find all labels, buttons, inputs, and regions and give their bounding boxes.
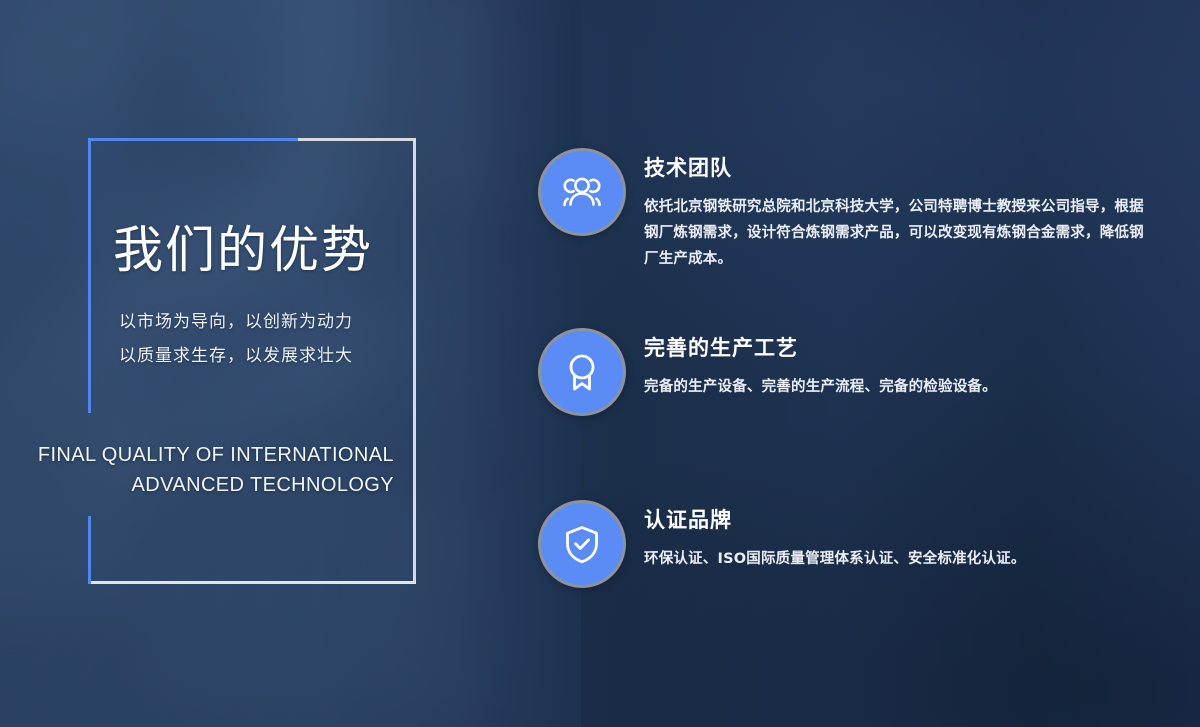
promo-banner: 我们的优势 以市场为导向，以创新为动力 以质量求生存，以发展求壮大 FINAL … <box>0 0 1200 727</box>
frame-top-accent-segment <box>88 138 298 141</box>
left-content: 我们的优势 以市场为导向，以创新为动力 以质量求生存，以发展求壮大 FINAL … <box>0 0 581 727</box>
frame-left-edge-upper <box>88 138 91 268</box>
frame-left-edge-middle <box>88 268 91 413</box>
frame-top-white-segment <box>298 138 416 141</box>
feature-text: 技术团队 依托北京钢铁研究总院和北京科技大学，公司特聘博士教授来公司指导，根据钢… <box>644 152 1158 272</box>
feature-description: 依托北京钢铁研究总院和北京科技大学，公司特聘博士教授来公司指导，根据钢厂炼钢需求… <box>644 194 1158 272</box>
feature-title: 完善的生产工艺 <box>644 332 1158 362</box>
feature-description: 完备的生产设备、完善的生产流程、完备的检验设备。 <box>644 374 1158 400</box>
english-tagline-line-1: FINAL QUALITY OF INTERNATIONAL <box>26 440 394 470</box>
feature-text: 完善的生产工艺 完备的生产设备、完善的生产流程、完备的检验设备。 <box>644 332 1158 400</box>
subtitle-block: 以市场为导向，以创新为动力 以质量求生存，以发展求壮大 <box>119 305 539 373</box>
people-group-icon <box>538 148 626 236</box>
subtitle-line-1: 以市场为导向，以创新为动力 <box>119 305 539 339</box>
shield-check-icon <box>538 500 626 588</box>
english-tagline: FINAL QUALITY OF INTERNATIONAL ADVANCED … <box>26 440 394 500</box>
english-tagline-line-2: ADVANCED TECHNOLOGY <box>26 470 394 500</box>
feature-title: 认证品牌 <box>644 504 1158 534</box>
page-title: 我们的优势 <box>113 225 513 275</box>
feature-description: 环保认证、ISO国际质量管理体系认证、安全标准化认证。 <box>644 546 1158 572</box>
subtitle-line-2: 以质量求生存，以发展求壮大 <box>119 339 539 373</box>
frame-left-edge-lower <box>88 516 91 584</box>
feature-title: 技术团队 <box>644 152 1158 182</box>
frame-bottom-edge <box>88 581 416 584</box>
feature-list: 技术团队 依托北京钢铁研究总院和北京科技大学，公司特聘博士教授来公司指导，根据钢… <box>538 0 1200 727</box>
award-medal-icon <box>538 328 626 416</box>
feature-text: 认证品牌 环保认证、ISO国际质量管理体系认证、安全标准化认证。 <box>644 504 1158 572</box>
